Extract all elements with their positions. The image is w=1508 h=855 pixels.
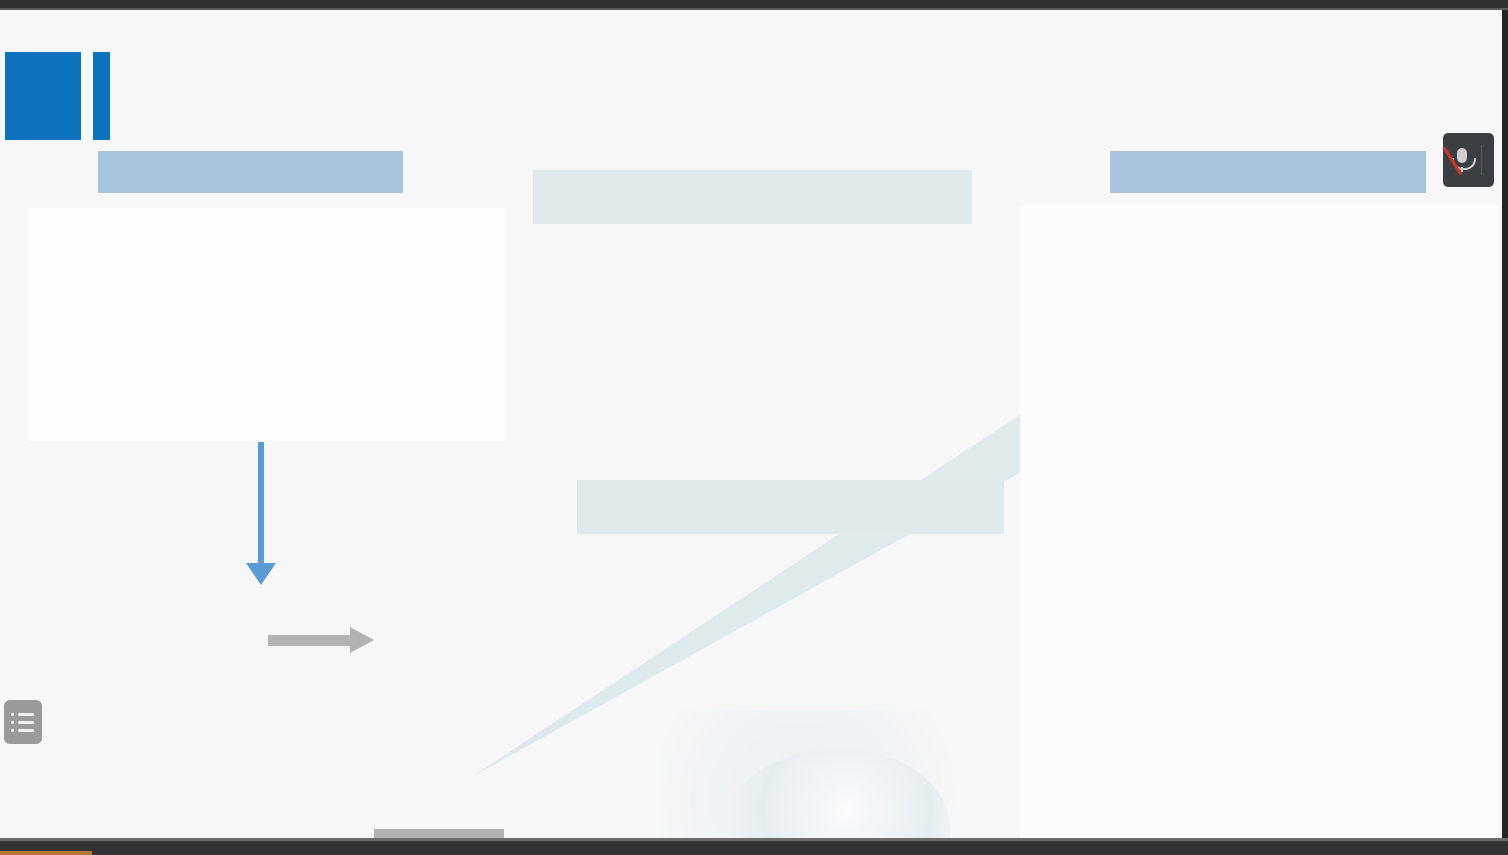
flow-arrow-head bbox=[246, 563, 276, 585]
meeting-screen-share bbox=[0, 0, 1508, 855]
presentation-slide bbox=[0, 10, 1502, 841]
section-banner-style-mining bbox=[1110, 151, 1426, 193]
title-accent-block bbox=[5, 52, 81, 140]
passing-network-figure bbox=[28, 208, 505, 441]
microphone-muted-icon[interactable] bbox=[1449, 145, 1475, 175]
window-bottom-bar bbox=[0, 841, 1508, 855]
transform-arrow-head bbox=[350, 627, 374, 653]
section-banner-passing-network bbox=[98, 151, 403, 193]
elbow-connector-horizontal bbox=[374, 829, 504, 838]
window-top-edge bbox=[0, 8, 1508, 10]
callout-style-mining bbox=[577, 480, 1004, 534]
flow-arrow-shaft bbox=[258, 442, 264, 567]
chip-divider bbox=[1481, 145, 1482, 175]
window-top-bar bbox=[0, 0, 1508, 8]
callout-passing-network bbox=[533, 170, 972, 224]
slide-title bbox=[112, 56, 1442, 142]
title-accent-bar bbox=[93, 52, 110, 140]
transform-arrow-shaft bbox=[268, 635, 354, 646]
participant-mic-chip[interactable] bbox=[1443, 133, 1494, 187]
window-right-edge bbox=[1502, 10, 1508, 838]
taskbar-accent bbox=[0, 851, 92, 855]
style-heatmap-grid bbox=[1020, 205, 1498, 841]
pitch-to-matrix-figure bbox=[40, 600, 690, 841]
panel-list-button[interactable] bbox=[4, 700, 42, 744]
